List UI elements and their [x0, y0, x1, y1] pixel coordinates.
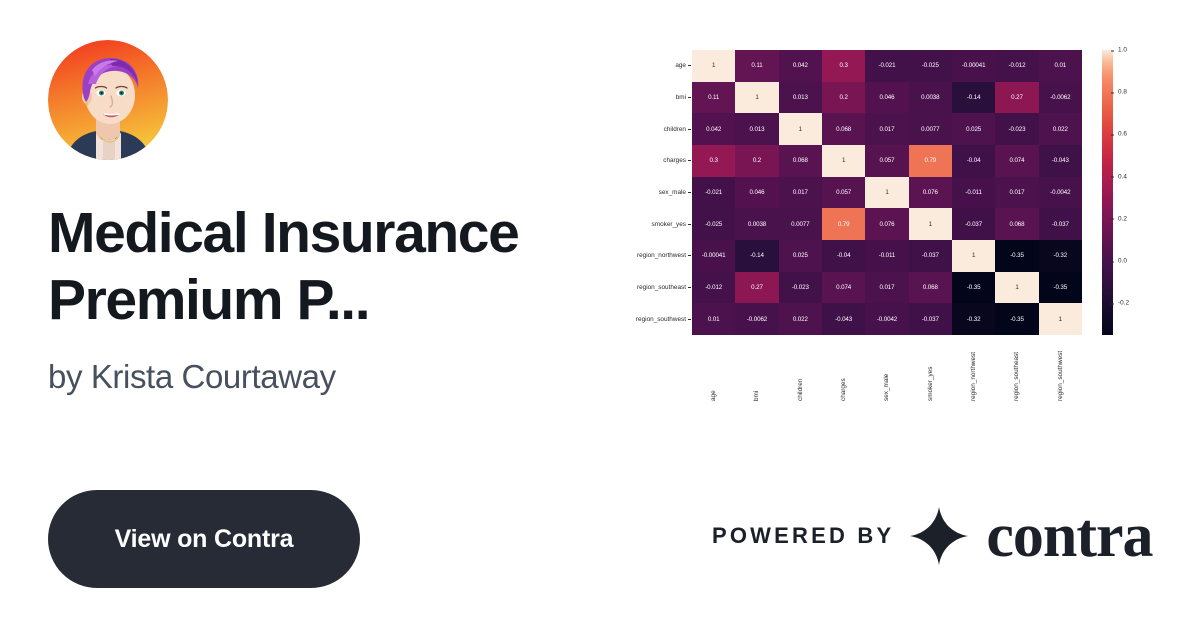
heatmap-cell: 1 [822, 145, 865, 177]
heatmap-cell: 0.017 [779, 177, 822, 209]
heatmap-cell: -0.023 [779, 272, 822, 304]
colorbar-tick: 0.6 [1115, 131, 1127, 138]
page-title: Medical Insurance Premium P... [48, 200, 588, 333]
heatmap-cell: -0.35 [952, 272, 995, 304]
heatmap-cell: -0.037 [909, 303, 952, 335]
heatmap-cell: 1 [779, 113, 822, 145]
heatmap-cell: -0.35 [995, 303, 1038, 335]
view-on-contra-button[interactable]: View on Contra [48, 490, 360, 588]
heatmap-cell: 0.074 [995, 145, 1038, 177]
heatmap-cell: -0.012 [692, 272, 735, 304]
project-info-panel: Medical Insurance Premium P... by Krista… [48, 40, 608, 590]
heatmap-cell: 0.11 [735, 50, 778, 82]
heatmap-cell: -0.04 [952, 145, 995, 177]
heatmap-cell: 0.046 [735, 177, 778, 209]
heatmap-cell: 0.013 [735, 113, 778, 145]
heatmap-cell: -0.00041 [692, 240, 735, 272]
heatmap-y-axis-labels: agebmichildrenchargessex_malesmoker_yesr… [620, 50, 692, 335]
author-byline: by Krista Courtaway [48, 358, 336, 396]
heatmap-cell: -0.35 [1039, 272, 1082, 304]
heatmap-cell: -0.04 [822, 240, 865, 272]
heatmap-row-label: region_northwest [620, 240, 692, 272]
heatmap-cell: 0.11 [692, 82, 735, 114]
heatmap-cell: 0.025 [952, 113, 995, 145]
heatmap-cell: 1 [952, 240, 995, 272]
heatmap-cell: -0.021 [865, 50, 908, 82]
heatmap-cell: 0.046 [865, 82, 908, 114]
contra-star-icon [908, 505, 970, 567]
heatmap-cell: 0.022 [779, 303, 822, 335]
heatmap-cell: 0.27 [735, 272, 778, 304]
heatmap-cell: -0.011 [865, 240, 908, 272]
heatmap-row-label: region_southwest [620, 303, 692, 335]
colorbar-tick-label: 0.4 [1115, 173, 1127, 180]
colorbar-tick-label: 0.6 [1115, 131, 1127, 138]
colorbar-tick-label: -0.2 [1115, 300, 1129, 307]
heatmap-cell: -0.14 [952, 82, 995, 114]
heatmap-col-label: region_southeast [1013, 335, 1020, 405]
heatmap-cell: -0.025 [692, 208, 735, 240]
avatar [48, 40, 168, 160]
heatmap-cell: 0.0038 [909, 82, 952, 114]
contra-wordmark: contra [986, 505, 1152, 567]
heatmap-cell: 1 [909, 208, 952, 240]
powered-by-contra: POWERED BY contra [712, 505, 1153, 567]
heatmap-col-label: age [710, 335, 717, 405]
heatmap-cell: 1 [865, 177, 908, 209]
heatmap-cell: -0.0062 [735, 303, 778, 335]
heatmap-cell: 0.074 [822, 272, 865, 304]
colorbar-tick: -0.2 [1115, 300, 1129, 307]
heatmap-cell: -0.00041 [952, 50, 995, 82]
heatmap-cell: 1 [1039, 303, 1082, 335]
heatmap-cell: -0.037 [909, 240, 952, 272]
heatmap-cell: 0.022 [1039, 113, 1082, 145]
heatmap-cell: -0.32 [1039, 240, 1082, 272]
heatmap-col-label: sex_male [883, 335, 890, 405]
heatmap-row-label: children [620, 113, 692, 145]
heatmap-cell: -0.023 [995, 113, 1038, 145]
heatmap-cell: 0.057 [822, 177, 865, 209]
heatmap-cell: -0.037 [1039, 208, 1082, 240]
heatmap-cell: 0.2 [822, 82, 865, 114]
heatmap-cell: 0.3 [692, 145, 735, 177]
heatmap-cell: -0.0062 [1039, 82, 1082, 114]
heatmap-cell: 0.27 [995, 82, 1038, 114]
colorbar-tick-label: 0.2 [1115, 215, 1127, 222]
heatmap-cell: 1 [735, 82, 778, 114]
heatmap-cell: -0.14 [735, 240, 778, 272]
heatmap-cell: -0.037 [952, 208, 995, 240]
heatmap-cell: 0.068 [779, 145, 822, 177]
colorbar-tick-label: 1.0 [1115, 47, 1127, 54]
heatmap-row-label: bmi [620, 82, 692, 114]
heatmap-cell: 0.068 [909, 272, 952, 304]
heatmap-cell: 0.042 [692, 113, 735, 145]
colorbar-tick: 0.8 [1115, 89, 1127, 96]
heatmap-cell: 0.01 [1039, 50, 1082, 82]
heatmap-cell: 0.2 [735, 145, 778, 177]
heatmap-cell: 0.025 [779, 240, 822, 272]
heatmap-cell: 1 [692, 50, 735, 82]
heatmap-col-label: region_northwest [970, 335, 977, 405]
colorbar-tick: 0.0 [1115, 258, 1127, 265]
heatmap-cell: 0.01 [692, 303, 735, 335]
heatmap-cell: -0.012 [995, 50, 1038, 82]
heatmap-cell: 1 [995, 272, 1038, 304]
heatmap-row-label: charges [620, 145, 692, 177]
heatmap-col-label: bmi [753, 335, 760, 405]
avatar-illustration [48, 40, 168, 160]
heatmap-col-label: smoker_yes [927, 335, 934, 405]
heatmap-x-axis-labels: agebmichildrenchargessex_malesmoker_yesr… [692, 335, 1082, 405]
heatmap-cell: 0.0077 [779, 208, 822, 240]
heatmap-cell: -0.021 [692, 177, 735, 209]
heatmap-cell: -0.0042 [1039, 177, 1082, 209]
heatmap-cell: -0.025 [909, 50, 952, 82]
colorbar-tick: 0.2 [1115, 215, 1127, 222]
heatmap-cell: -0.043 [822, 303, 865, 335]
heatmap-cell: 0.057 [865, 145, 908, 177]
heatmap-col-label: region_southwest [1057, 335, 1064, 405]
heatmap-row-label: sex_male [620, 177, 692, 209]
heatmap-cell: -0.35 [995, 240, 1038, 272]
heatmap-cell: 0.042 [779, 50, 822, 82]
heatmap-cell: 0.017 [865, 272, 908, 304]
colorbar-tick: 0.4 [1115, 173, 1127, 180]
heatmap-cell: 0.0077 [909, 113, 952, 145]
colorbar-tick-label: 0.8 [1115, 89, 1127, 96]
heatmap-col-label: charges [840, 335, 847, 405]
correlation-heatmap-figure: agebmichildrenchargessex_malesmoker_yesr… [620, 28, 1180, 408]
heatmap-cell: 0.79 [909, 145, 952, 177]
heatmap-cell: 0.0038 [735, 208, 778, 240]
heatmap: agebmichildrenchargessex_malesmoker_yesr… [620, 28, 1180, 408]
heatmap-colorbar: 1.00.80.60.40.20.0-0.2 [1102, 50, 1113, 335]
heatmap-cell: 0.076 [909, 177, 952, 209]
heatmap-cell: -0.32 [952, 303, 995, 335]
powered-by-label: POWERED BY [712, 523, 894, 549]
heatmap-row-label: smoker_yes [620, 208, 692, 240]
heatmap-grid: 10.110.0420.3-0.021-0.025-0.00041-0.0120… [692, 50, 1082, 335]
colorbar-tick: 1.0 [1115, 47, 1127, 54]
heatmap-cell: 0.068 [995, 208, 1038, 240]
heatmap-row-label: age [620, 50, 692, 82]
colorbar-tick-labels: 1.00.80.60.40.20.0-0.2 [1115, 50, 1155, 335]
heatmap-cell: 0.79 [822, 208, 865, 240]
heatmap-cell: 0.3 [822, 50, 865, 82]
heatmap-cell: -0.0042 [865, 303, 908, 335]
heatmap-cell: 0.068 [822, 113, 865, 145]
colorbar-tick-label: 0.0 [1115, 258, 1127, 265]
heatmap-cell: 0.013 [779, 82, 822, 114]
heatmap-col-label: children [797, 335, 804, 405]
heatmap-cell: 0.017 [995, 177, 1038, 209]
heatmap-cell: -0.011 [952, 177, 995, 209]
heatmap-cell: 0.017 [865, 113, 908, 145]
heatmap-cell: 0.076 [865, 208, 908, 240]
heatmap-row-label: region_southeast [620, 272, 692, 304]
heatmap-cell: -0.043 [1039, 145, 1082, 177]
